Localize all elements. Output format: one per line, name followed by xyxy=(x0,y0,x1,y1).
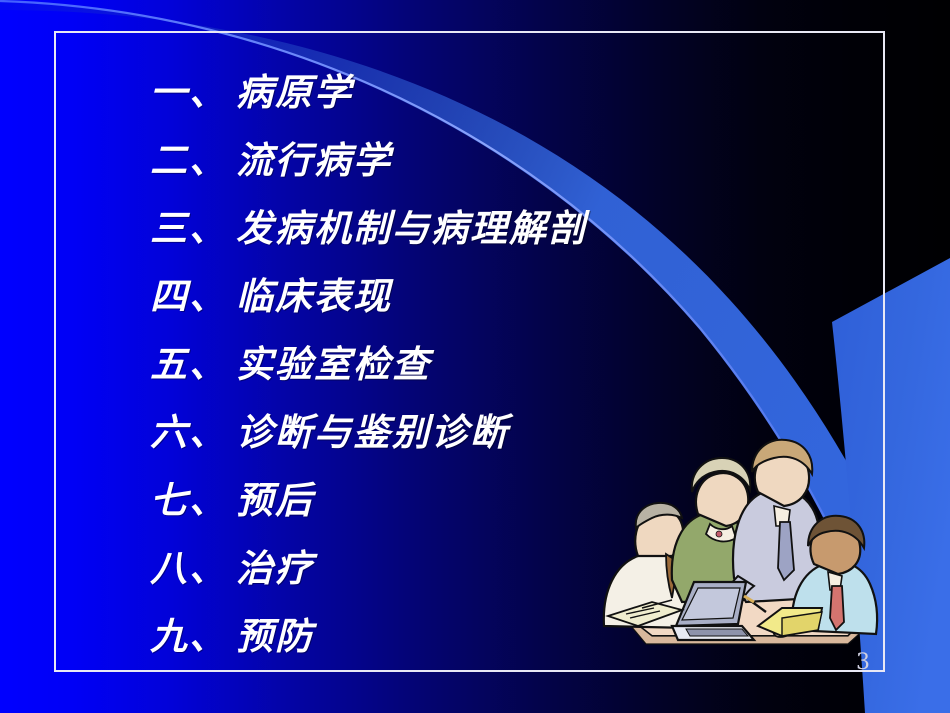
toc-item-6: 六、诊断与鉴别诊断 xyxy=(150,398,790,466)
toc-item-5: 五、实验室检查 xyxy=(150,330,790,398)
toc-item-3-label: 发病机制与病理解剖 xyxy=(236,194,587,262)
presentation-slide: 一、病原学 二、流行病学 三、发病机制与病理解剖 四、临床表现 五、实验室检查 … xyxy=(0,0,950,713)
toc-item-4-number: 四、 xyxy=(150,262,236,330)
table-of-contents: 一、病原学 二、流行病学 三、发病机制与病理解剖 四、临床表现 五、实验室检查 … xyxy=(150,58,790,670)
toc-item-8-number: 八、 xyxy=(150,534,236,602)
toc-item-7-number: 七、 xyxy=(150,466,236,534)
toc-item-7: 七、预后 xyxy=(150,466,790,534)
toc-item-2: 二、流行病学 xyxy=(150,126,790,194)
toc-item-1-number: 一、 xyxy=(150,58,236,126)
toc-item-5-number: 五、 xyxy=(150,330,236,398)
page-number: 3 xyxy=(856,652,870,674)
toc-item-1: 一、病原学 xyxy=(150,58,790,126)
toc-item-3-number: 三、 xyxy=(150,194,236,262)
toc-item-9: 九、预防 xyxy=(150,602,790,670)
toc-item-6-label: 诊断与鉴别诊断 xyxy=(236,398,509,466)
toc-item-9-number: 九、 xyxy=(150,602,236,670)
toc-item-7-label: 预后 xyxy=(236,466,314,534)
toc-item-8-label: 治疗 xyxy=(236,534,314,602)
toc-item-2-label: 流行病学 xyxy=(236,126,392,194)
toc-item-3: 三、发病机制与病理解剖 xyxy=(150,194,790,262)
toc-item-1-label: 病原学 xyxy=(236,58,353,126)
toc-item-6-number: 六、 xyxy=(150,398,236,466)
toc-item-5-label: 实验室检查 xyxy=(236,330,431,398)
toc-item-8: 八、治疗 xyxy=(150,534,790,602)
toc-item-9-label: 预防 xyxy=(236,602,314,670)
toc-item-4: 四、临床表现 xyxy=(150,262,790,330)
toc-item-2-number: 二、 xyxy=(150,126,236,194)
toc-item-4-label: 临床表现 xyxy=(236,262,392,330)
